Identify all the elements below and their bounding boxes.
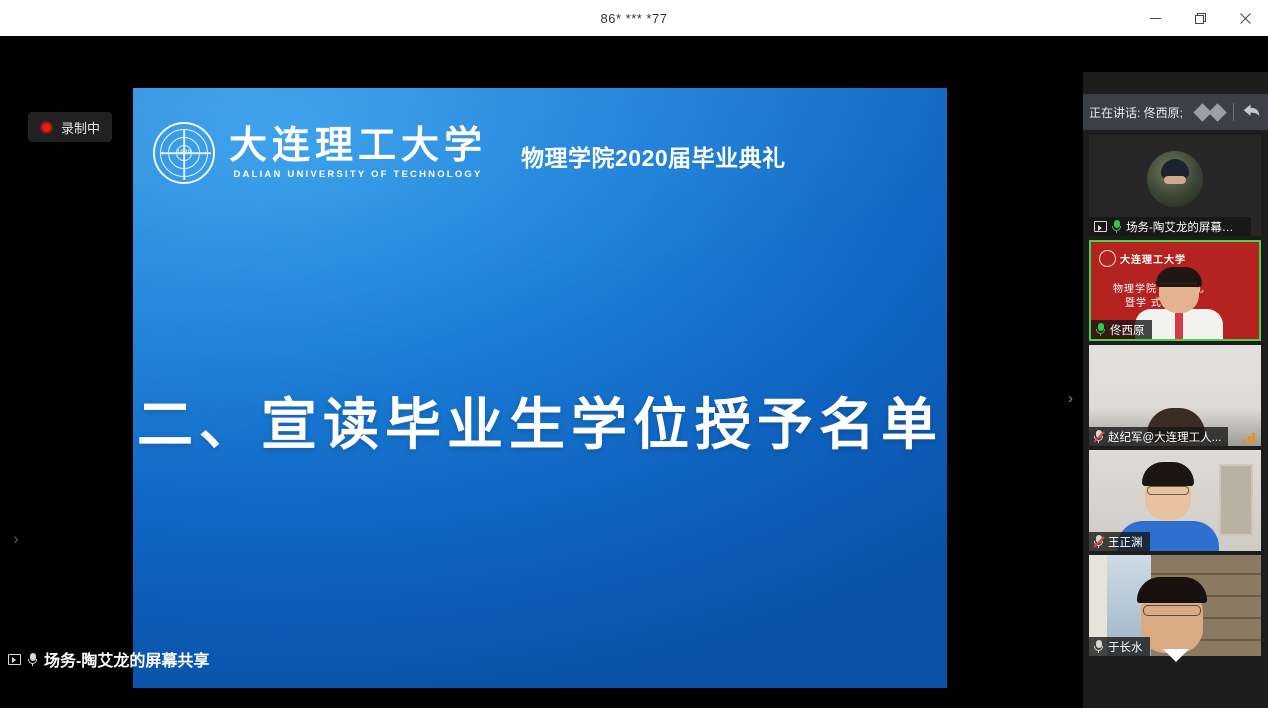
microphone-muted-icon bbox=[1094, 430, 1103, 443]
meeting-stage: 录制中 › 1949 大连理工大学 DALIAN UNIVERSITY OF T… bbox=[0, 36, 1268, 672]
slide-header: 1949 大连理工大学 DALIAN UNIVERSITY OF TECHNOL… bbox=[147, 122, 947, 184]
participant-tile-list: 场务-陶艾龙的屏幕共享 大连理工大学 物理学院 毕业典礼 暨学 式 bbox=[1089, 135, 1263, 660]
slide-main-title: 二、宣读毕业生学位授予名单 bbox=[133, 380, 947, 461]
participant-name-tag: 赵纪军@大连理工人... bbox=[1089, 427, 1228, 446]
screen-share-icon bbox=[1094, 221, 1107, 232]
minimize-button[interactable] bbox=[1133, 0, 1178, 36]
participant-tile[interactable]: 场务-陶艾龙的屏幕共享 bbox=[1089, 135, 1261, 236]
university-name-block: 大连理工大学 DALIAN UNIVERSITY OF TECHNOLOGY bbox=[229, 126, 487, 180]
back-arrow-icon[interactable] bbox=[1243, 103, 1262, 122]
window-title: 86* *** *77 bbox=[601, 11, 668, 26]
participants-panel: › 正在讲话: 佟西原; 场务-陶艾龙的屏幕共享 bbox=[1083, 72, 1268, 708]
participant-name: 王正渊 bbox=[1108, 534, 1143, 550]
header-divider bbox=[1233, 103, 1234, 121]
participant-name-tag: 王正渊 bbox=[1089, 532, 1150, 551]
microphone-icon bbox=[28, 653, 37, 666]
microphone-icon bbox=[1096, 323, 1105, 336]
screen-share-icon bbox=[8, 654, 21, 665]
screen-share-owner-label: 场务-陶艾龙的屏幕共享 bbox=[44, 647, 209, 671]
participant-tile[interactable]: 于长水 bbox=[1089, 555, 1261, 656]
microphone-icon bbox=[1094, 640, 1103, 653]
background-decor bbox=[1219, 464, 1253, 536]
collapse-panel-chevron-icon[interactable]: › bbox=[1068, 390, 1073, 407]
record-dot-icon bbox=[40, 121, 53, 134]
participant-tile[interactable]: 赵纪军@大连理工人... bbox=[1089, 345, 1261, 446]
panel-header: 正在讲话: 佟西原; bbox=[1083, 94, 1268, 130]
close-button[interactable] bbox=[1223, 0, 1268, 36]
chevron-down-icon[interactable] bbox=[1163, 649, 1189, 662]
layout-view-icon[interactable] bbox=[1196, 106, 1224, 119]
university-name-cn: 大连理工大学 bbox=[229, 126, 487, 166]
shared-screen-slide: 1949 大连理工大学 DALIAN UNIVERSITY OF TECHNOL… bbox=[133, 88, 947, 688]
participant-name: 赵纪军@大连理工人... bbox=[1108, 429, 1221, 445]
avatar bbox=[1147, 151, 1203, 207]
expand-left-panel-chevron-icon[interactable]: › bbox=[6, 525, 26, 553]
participant-name-tag: 于长水 bbox=[1089, 637, 1150, 656]
network-signal-icon bbox=[1243, 433, 1255, 443]
university-logo-icon bbox=[1099, 250, 1116, 267]
participant-name: 于长水 bbox=[1108, 639, 1143, 655]
active-speaker-label: 正在讲话: 佟西原; bbox=[1089, 104, 1192, 121]
logo-year: 1949 bbox=[177, 150, 192, 156]
recording-indicator[interactable]: 录制中 bbox=[28, 112, 112, 142]
recording-label: 录制中 bbox=[61, 118, 100, 137]
screen-share-status-bar: 场务-陶艾龙的屏幕共享 bbox=[0, 646, 1083, 672]
microphone-icon bbox=[1112, 220, 1121, 233]
microphone-muted-icon bbox=[1094, 535, 1103, 548]
participant-tile-active-speaker[interactable]: 大连理工大学 物理学院 毕业典礼 暨学 式 佟西原 bbox=[1089, 240, 1261, 341]
participant-name-tag: 场务-陶艾龙的屏幕共享 bbox=[1089, 217, 1251, 236]
window-controls bbox=[1133, 0, 1268, 36]
slide-subject: 物理学院2020届毕业典礼 bbox=[521, 133, 786, 173]
restore-button[interactable] bbox=[1178, 0, 1223, 36]
participant-name-tag: 佟西原 bbox=[1091, 320, 1152, 339]
backdrop-university-name: 大连理工大学 bbox=[1120, 251, 1186, 266]
participant-name: 佟西原 bbox=[1110, 322, 1145, 338]
university-logo-icon: 1949 bbox=[153, 122, 215, 184]
participant-name: 场务-陶艾龙的屏幕共享 bbox=[1126, 219, 1244, 235]
university-name-en: DALIAN UNIVERSITY OF TECHNOLOGY bbox=[229, 169, 487, 180]
participant-tile[interactable]: 王正渊 bbox=[1089, 450, 1261, 551]
window-title-bar: 86* *** *77 bbox=[0, 0, 1268, 36]
